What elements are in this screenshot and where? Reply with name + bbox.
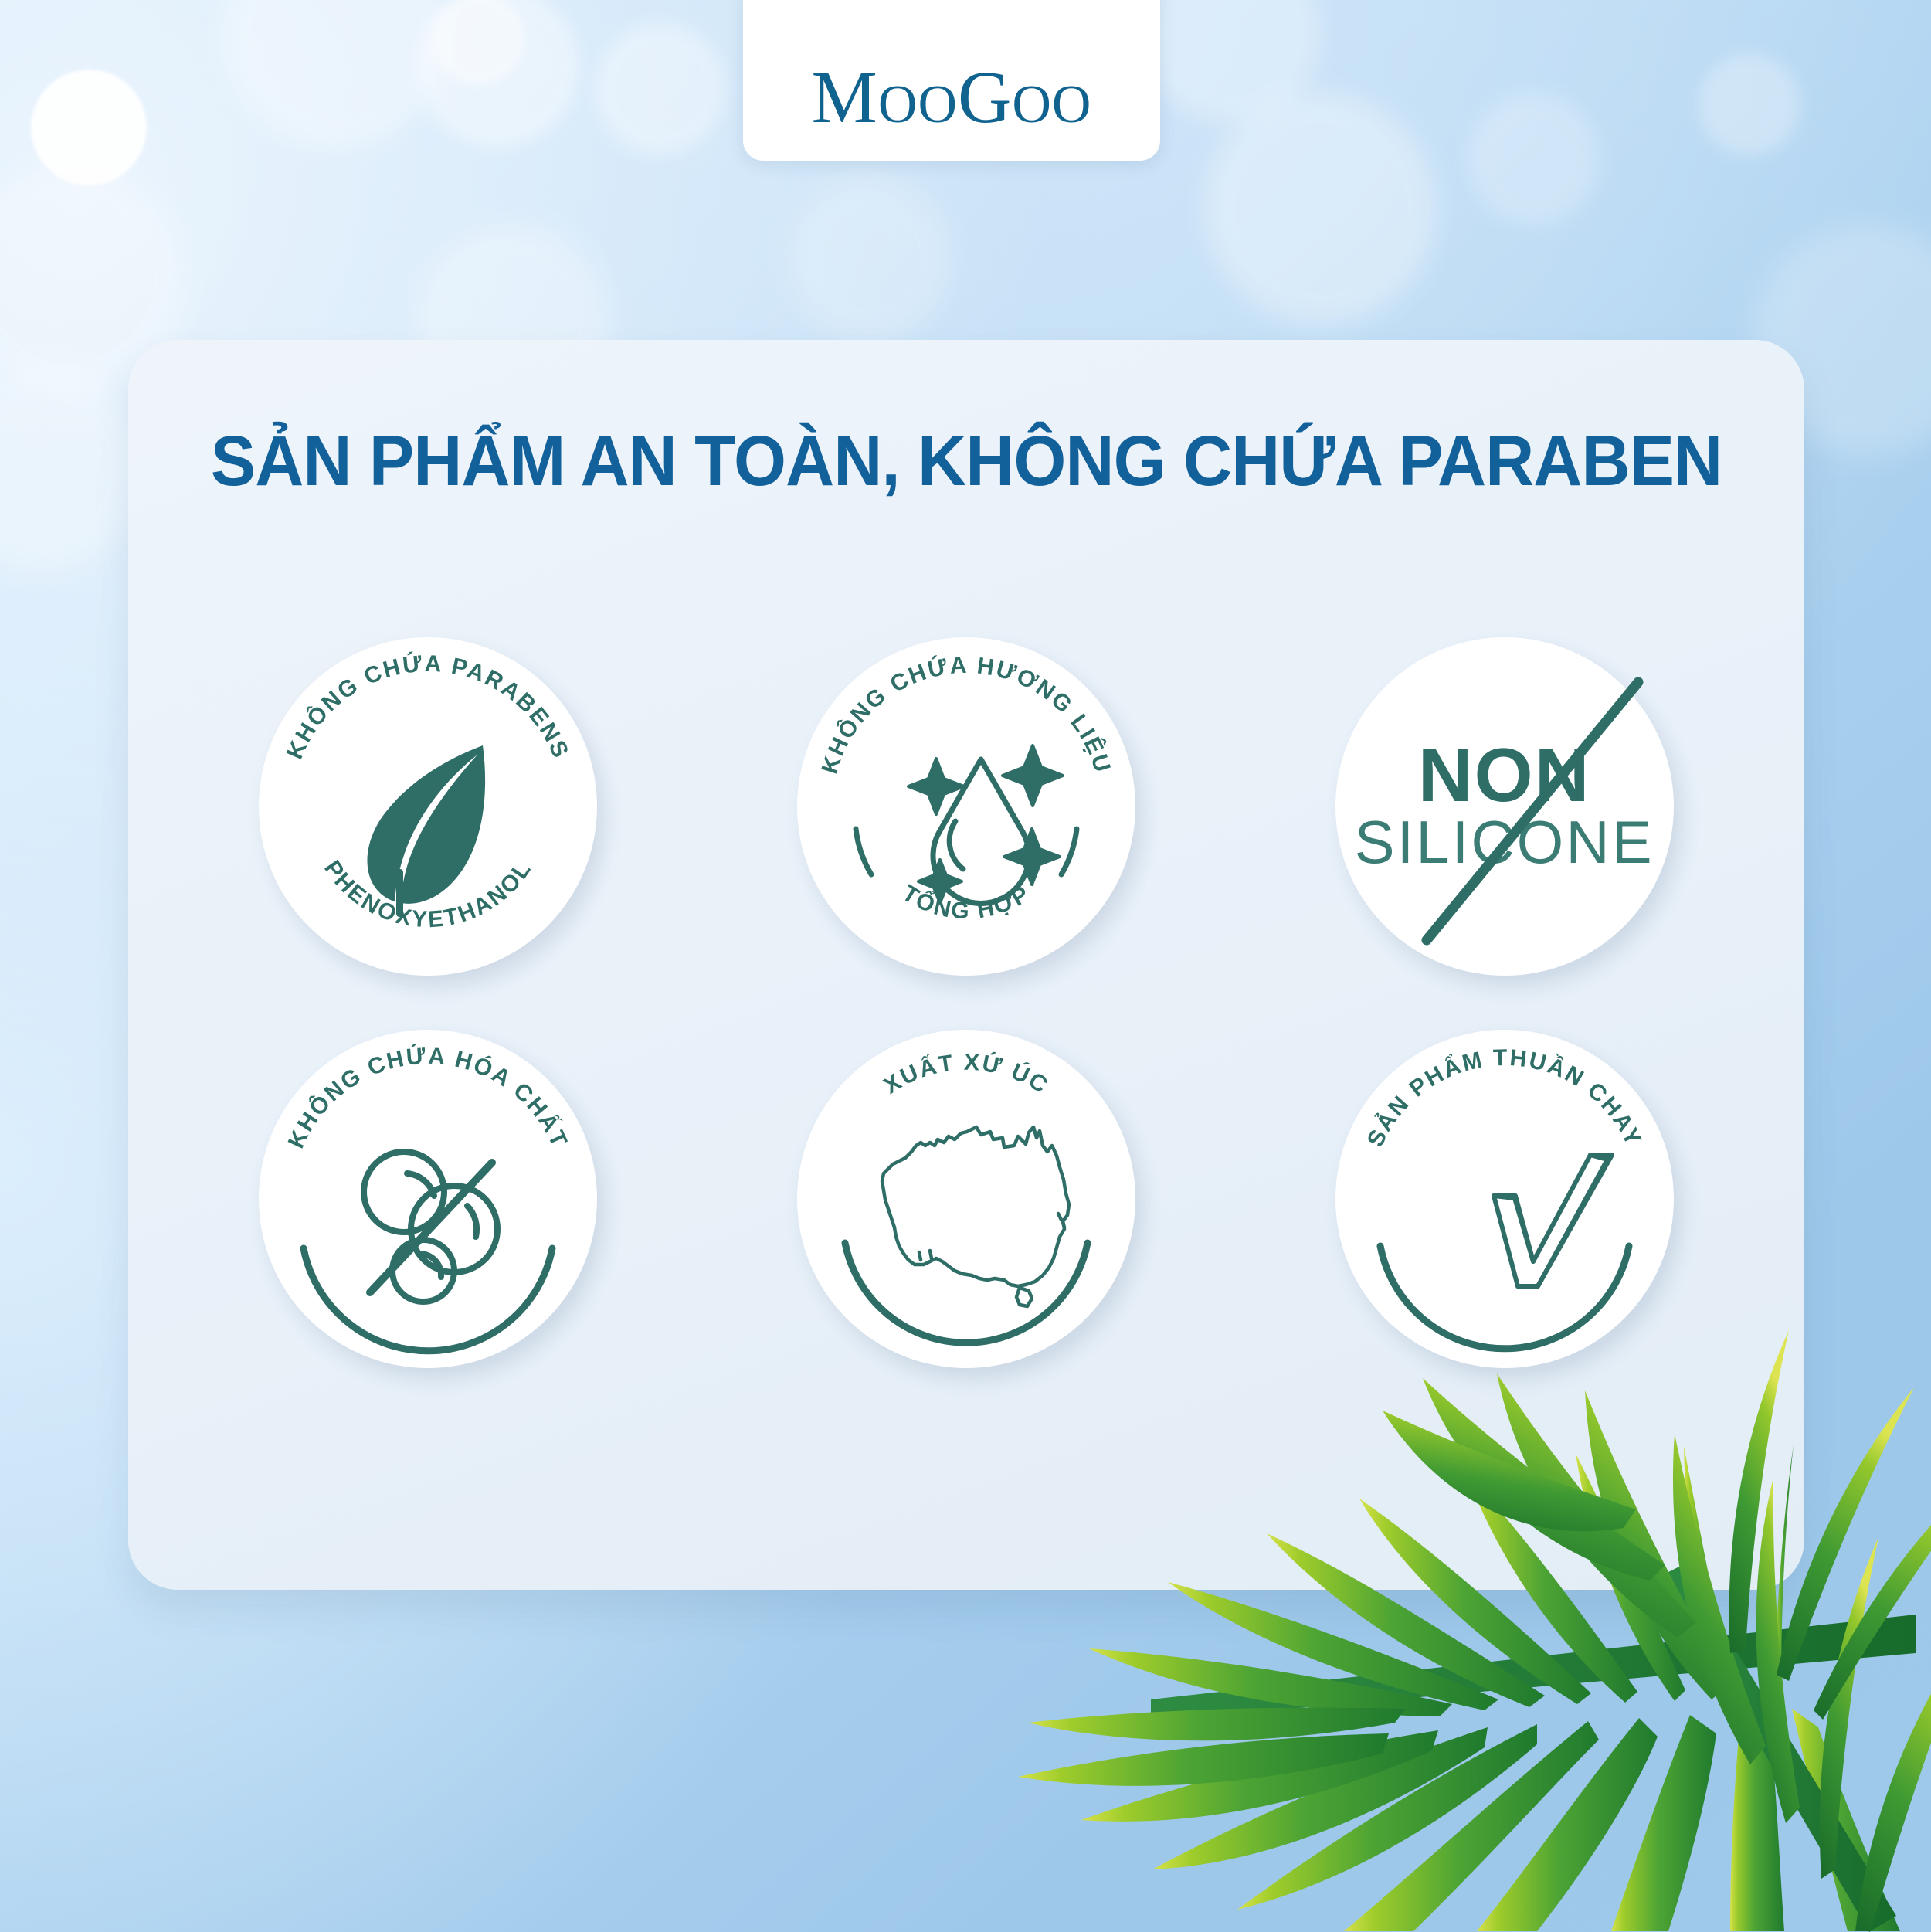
badge-made-in-australia[interactable]: XUẤT XỨ ÚC xyxy=(797,1030,1135,1368)
badge-vegan-product-art: SẢN PHẨM THUẦN CHAY xyxy=(1335,1030,1674,1368)
badge-no-chemicals-art: KHÔNG CHỨA HÓA CHẤT xyxy=(259,1030,597,1368)
page-title: SẢN PHẨM AN TOÀN, KHÔNG CHỨA PARABEN xyxy=(170,421,1763,502)
badge-non-silicone[interactable]: NON SILICONE xyxy=(1335,637,1674,976)
checkmark-3d-icon xyxy=(1494,1155,1612,1286)
content-card: SẢN PHẨM AN TOÀN, KHÔNG CHỨA PARABEN KHÔ… xyxy=(128,340,1804,1590)
badge-no-parabens[interactable]: KHÔNG CHỨA PARABENS PHENOXYETHANOL xyxy=(259,637,597,976)
crossed-molecule-icon xyxy=(364,1152,497,1302)
diagonal-slash-icon xyxy=(1335,637,1674,976)
badge-no-parabens-art: KHÔNG CHỨA PARABENS PHENOXYETHANOL xyxy=(259,637,597,976)
badge-no-chemicals[interactable]: KHÔNG CHỨA HÓA CHẤT xyxy=(259,1030,597,1368)
logo-letters-oo2: OO xyxy=(1012,75,1091,134)
badge-top-arc-label: KHÔNG CHỨA PARABENS xyxy=(282,650,574,763)
leaf-icon xyxy=(368,745,486,917)
bottom-arc-line xyxy=(1380,1246,1629,1349)
badge-top-arc-label: SẢN PHẨM THUẦN CHAY xyxy=(1363,1045,1647,1151)
water-drop-sparkle-icon xyxy=(908,745,1063,903)
badge-top-arc-label: XUẤT XỨ ÚC xyxy=(879,1050,1053,1099)
logo-letter-g: G xyxy=(958,56,1012,138)
bottom-arc-line xyxy=(845,1243,1088,1343)
badge-top-arc-label: KHÔNG CHỨA HÓA CHẤT xyxy=(283,1043,572,1153)
logo-letter-m: M xyxy=(812,56,878,138)
badge-grid: KHÔNG CHỨA PARABENS PHENOXYETHANOL xyxy=(159,637,1773,1368)
brand-logo-text: MOOGOO xyxy=(812,60,1092,161)
badge-made-in-australia-art: XUẤT XỨ ÚC xyxy=(797,1030,1135,1368)
brand-logo-plate: MOOGOO xyxy=(743,0,1160,161)
badge-vegan-product[interactable]: SẢN PHẨM THUẦN CHAY xyxy=(1335,1030,1674,1368)
logo-letters-oo: OO xyxy=(878,75,958,134)
australia-map-icon xyxy=(882,1127,1069,1306)
badge-top-arc-label: KHÔNG CHỨA HƯƠNG LIỆU xyxy=(817,653,1116,777)
badge-no-synthetic-fragrance-art: KHÔNG CHỨA HƯƠNG LIỆU TỔNG HỢP xyxy=(797,637,1135,976)
badge-no-synthetic-fragrance[interactable]: KHÔNG CHỨA HƯƠNG LIỆU TỔNG HỢP xyxy=(797,637,1135,976)
